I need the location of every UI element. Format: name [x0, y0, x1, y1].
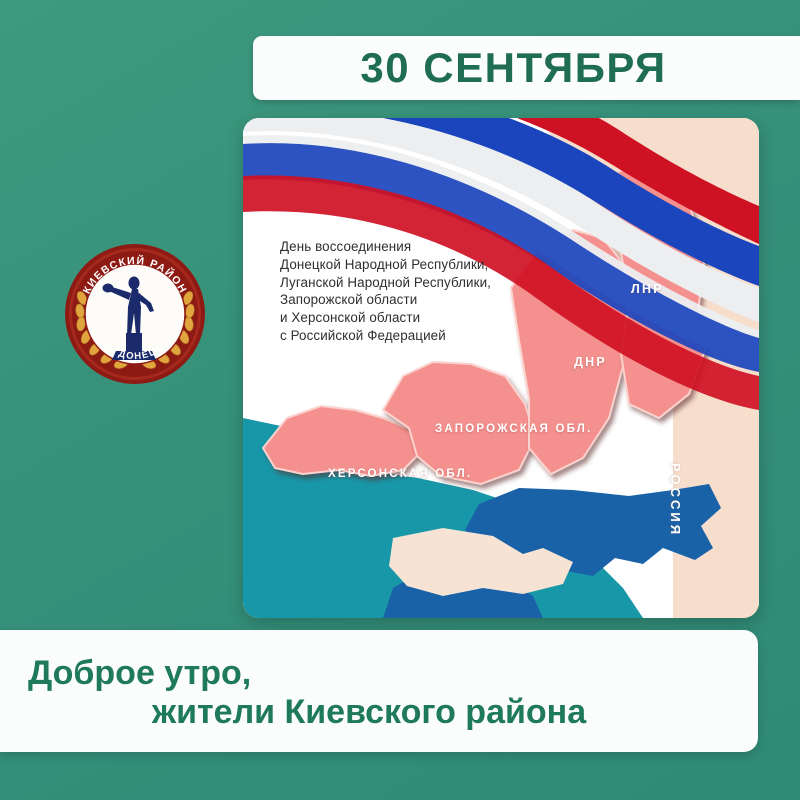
greeting-banner: Доброе утро, жители Киевского района — [0, 630, 758, 752]
map-graphic — [243, 118, 759, 618]
map-caption: День воссоединения Донецкой Народной Рес… — [280, 238, 530, 345]
page-title: 30 СЕНТЯБРЯ — [360, 47, 666, 89]
district-emblem: КИЕВСКИЙ РАЙОН Г. ДОНЕЦК — [64, 243, 206, 385]
emblem-icon: КИЕВСКИЙ РАЙОН Г. ДОНЕЦК — [64, 243, 206, 385]
greeting-line-2: жители Киевского района — [152, 693, 586, 732]
greeting-line-1: Доброе утро, — [28, 654, 251, 693]
map-card: День воссоединения Донецкой Народной Рес… — [243, 118, 759, 618]
title-banner: 30 СЕНТЯБРЯ — [253, 36, 800, 100]
poster-root: 30 СЕНТЯБРЯ — [0, 0, 800, 800]
